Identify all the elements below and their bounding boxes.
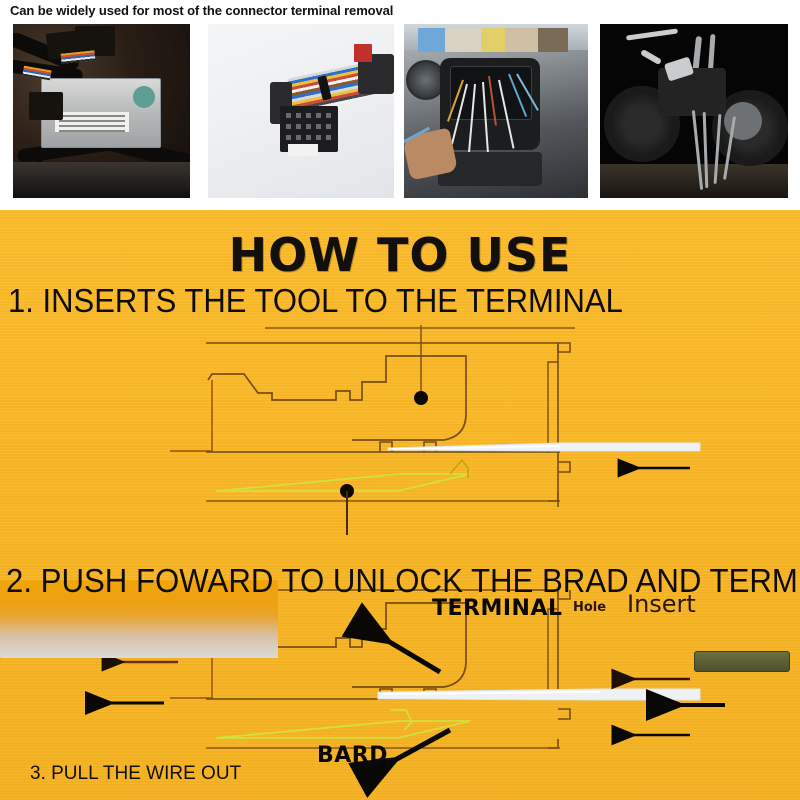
step-3-heading: 3. PULL THE WIRE OUT <box>30 763 241 785</box>
photo-car-radio-unit <box>13 24 190 198</box>
photo-dashboard-wires <box>404 24 588 198</box>
step1-diagram <box>170 325 700 535</box>
terminal-callout-dot <box>414 391 428 405</box>
photo-strip <box>0 24 800 210</box>
instruction-diagram <box>0 210 800 800</box>
label-bard: BARD <box>317 743 388 768</box>
photo-motorcycle-wiring <box>600 24 788 198</box>
removal-tool-step1 <box>694 651 790 672</box>
unlock-arrow-upper <box>356 622 440 672</box>
header-bar: Can be widely used for most of the conne… <box>0 0 800 24</box>
how-to-use-panel: HOW TO USE 1. INSERTS THE TOOL TO THE TE… <box>0 210 800 800</box>
header-caption: Can be widely used for most of the conne… <box>10 3 393 18</box>
label-hole: Hole <box>573 600 606 615</box>
page-root: Can be widely used for most of the conne… <box>0 0 800 800</box>
photo-wiring-harness-adapter <box>208 24 394 198</box>
step-2-heading: 2. PUSH FOWARD TO UNLOCK THE BRAD AND TE… <box>6 562 800 600</box>
